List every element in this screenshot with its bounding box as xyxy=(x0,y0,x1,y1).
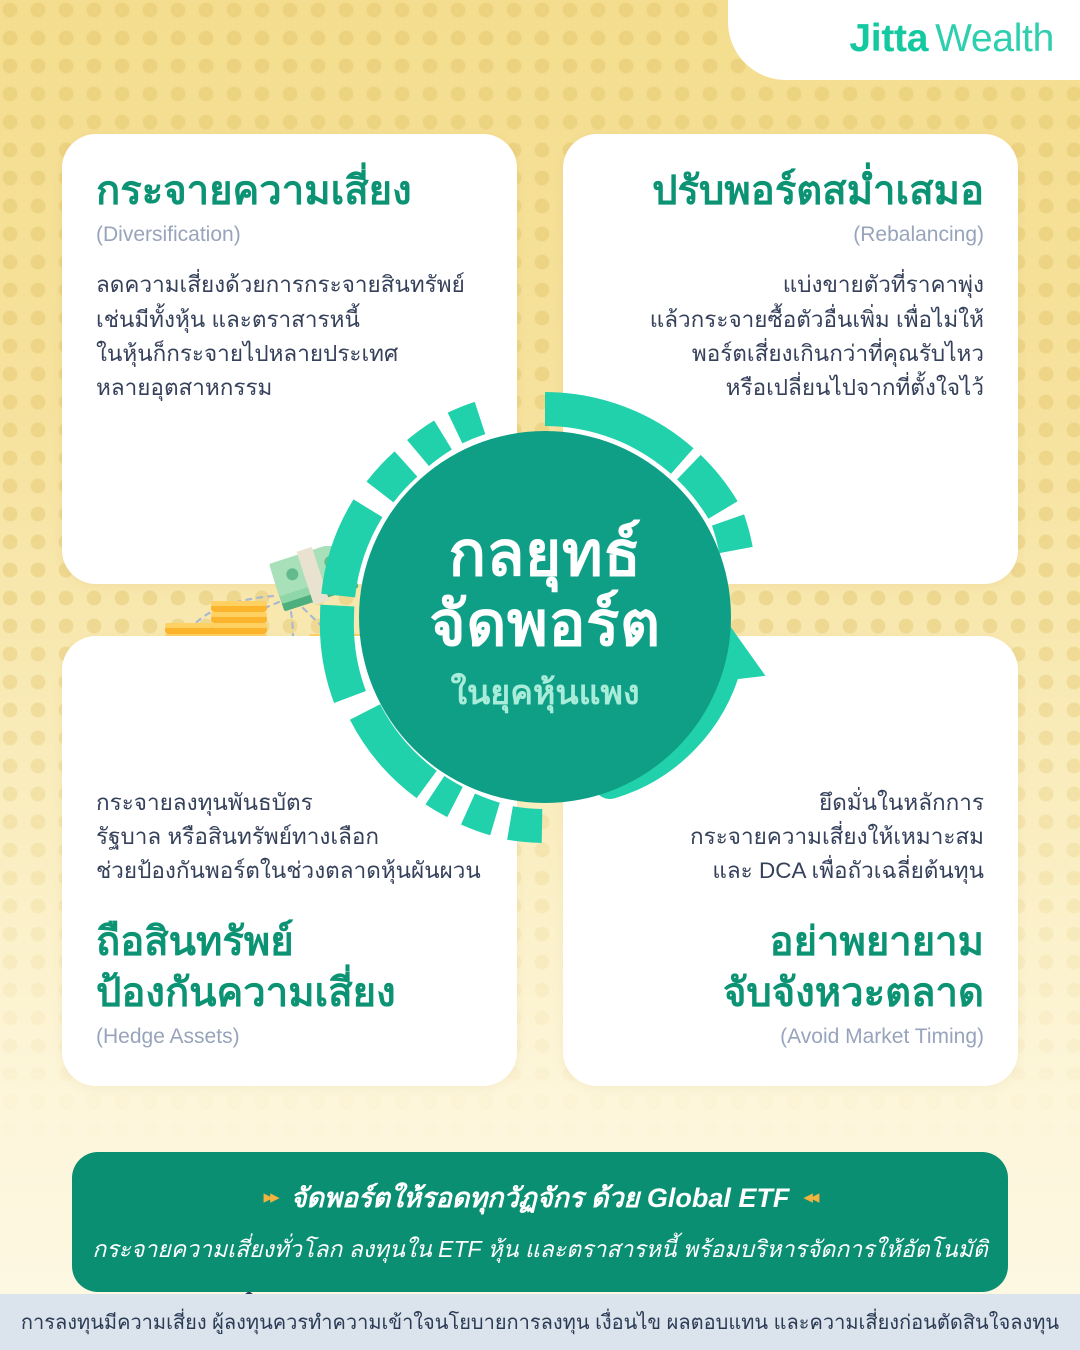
card-diversification-subtitle: (Diversification) xyxy=(96,221,496,248)
chevron-left-icon: ◂◂ xyxy=(803,1186,816,1209)
wheel-core: กลยุทธ์ จัดพอร์ต ในยุคหุ้นแพง xyxy=(359,431,731,803)
footer-disclaimer-bar: การลงทุนมีความเสี่ยง ผู้ลงทุนควรทำความเข… xyxy=(0,1294,1080,1350)
jitta-wealth-logo: JittaWealth xyxy=(849,14,1054,64)
logo-light-part: Wealth xyxy=(935,17,1054,60)
card-rebalancing-title: ปรับพอร์ตสม่ำเสมอ xyxy=(584,166,984,217)
card-rebalancing-text: ปรับพอร์ตสม่ำเสมอ (Rebalancing) แบ่งขายต… xyxy=(584,166,984,405)
center-wheel: กลยุทธ์ จัดพอร์ต ในยุคหุ้นแพง xyxy=(310,382,780,852)
center-title-line1: กลยุทธ์ xyxy=(448,520,641,589)
card-avoid-market-timing-subtitle: (Avoid Market Timing) xyxy=(564,1023,984,1050)
center-subtitle: ในยุคหุ้นแพง xyxy=(450,673,639,714)
card-hedge-assets-subtitle: (Hedge Assets) xyxy=(96,1023,516,1050)
logo-bold-part: Jitta xyxy=(849,17,928,60)
header-plate: JittaWealth xyxy=(728,0,1080,80)
card-hedge-assets-title: ถือสินทรัพย์ ป้องกันความเสี่ยง xyxy=(96,917,516,1019)
footer-disclaimer-text: การลงทุนมีความเสี่ยง ผู้ลงทุนควรทำความเข… xyxy=(21,1306,1059,1338)
infographic-page: JittaWealth กระจายความเสี่ยง (Diversific… xyxy=(0,0,1080,1350)
center-title-line2: จัดพอร์ต xyxy=(429,590,660,659)
card-diversification-text: กระจายความเสี่ยง (Diversification) ลดควา… xyxy=(96,166,496,405)
banner-subline: กระจายความเสี่ยงทั่วโลก ลงทุนใน ETF หุ้น… xyxy=(74,1232,1005,1268)
promo-banner[interactable]: ▸▸ จัดพอร์ตให้รอดทุกวัฏจักร ด้วย Global … xyxy=(72,1152,1008,1292)
card-rebalancing-subtitle: (Rebalancing) xyxy=(584,221,984,248)
chevron-right-icon: ▸▸ xyxy=(264,1186,277,1209)
banner-headline: จัดพอร์ตให้รอดทุกวัฏจักร ด้วย Global ETF xyxy=(291,1176,790,1219)
banner-headline-row: ▸▸ จัดพอร์ตให้รอดทุกวัฏจักร ด้วย Global … xyxy=(264,1176,817,1219)
card-diversification-title: กระจายความเสี่ยง xyxy=(96,166,496,217)
card-avoid-market-timing-title: อย่าพยายาม จับจังหวะตลาด xyxy=(564,917,984,1019)
